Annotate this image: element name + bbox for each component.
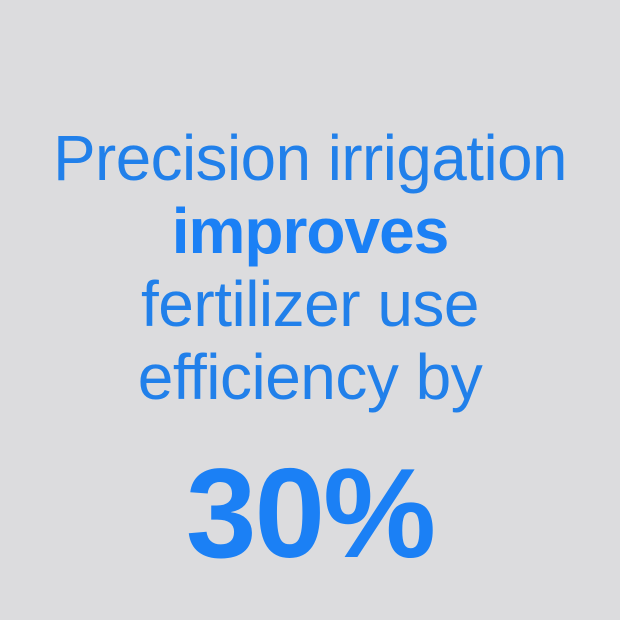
statement-line-2-emphasis: improves (0, 195, 620, 268)
stat-card: Precision irrigation improves fertilizer… (0, 0, 620, 620)
statement-line-3: fertilizer use (0, 268, 620, 341)
statistic-value: 30% (0, 450, 620, 577)
statement-line-1: Precision irrigation (2, 122, 619, 195)
statement-line-4: efficiency by (0, 341, 620, 414)
statement-block: Precision irrigation improves fertilizer… (0, 0, 620, 577)
